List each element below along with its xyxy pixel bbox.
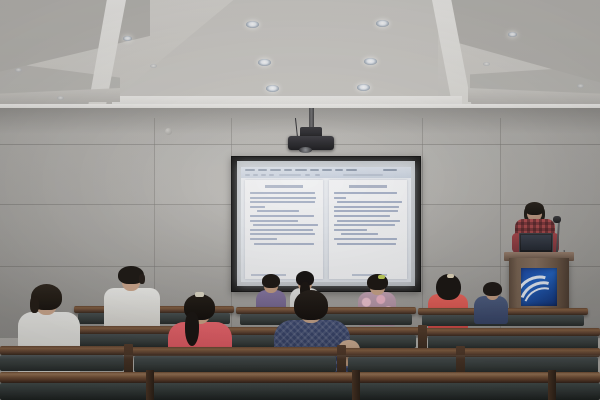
recessed-downlight [364,58,377,65]
document-page-left [245,180,323,279]
recessed-downlight [483,62,490,66]
recessed-downlight [123,36,132,41]
projector-lens-icon [299,147,312,153]
ceiling [0,0,600,118]
document-toolbar [241,167,411,178]
hair-clip [195,292,204,297]
recessed-downlight [246,21,259,28]
projected-document [241,167,411,282]
recessed-downlight [266,85,279,92]
recessed-downlight [15,68,22,72]
recessed-downlight [508,32,517,37]
recessed-downlight [357,84,370,91]
document-page-right [329,180,407,279]
speaker-hair [525,202,544,215]
recessed-downlight [57,96,64,100]
page-heading [349,185,386,188]
recessed-downlight [150,64,157,68]
page-heading [265,185,302,188]
recessed-downlight [376,20,389,27]
laptop-screen-glow [521,235,551,250]
microphone-icon [553,216,561,223]
lecture-hall-photo [0,0,600,400]
recessed-downlight [577,84,584,88]
document-page-area [245,180,407,279]
recessed-downlight [258,59,271,66]
organization-logo-icon [521,268,557,306]
